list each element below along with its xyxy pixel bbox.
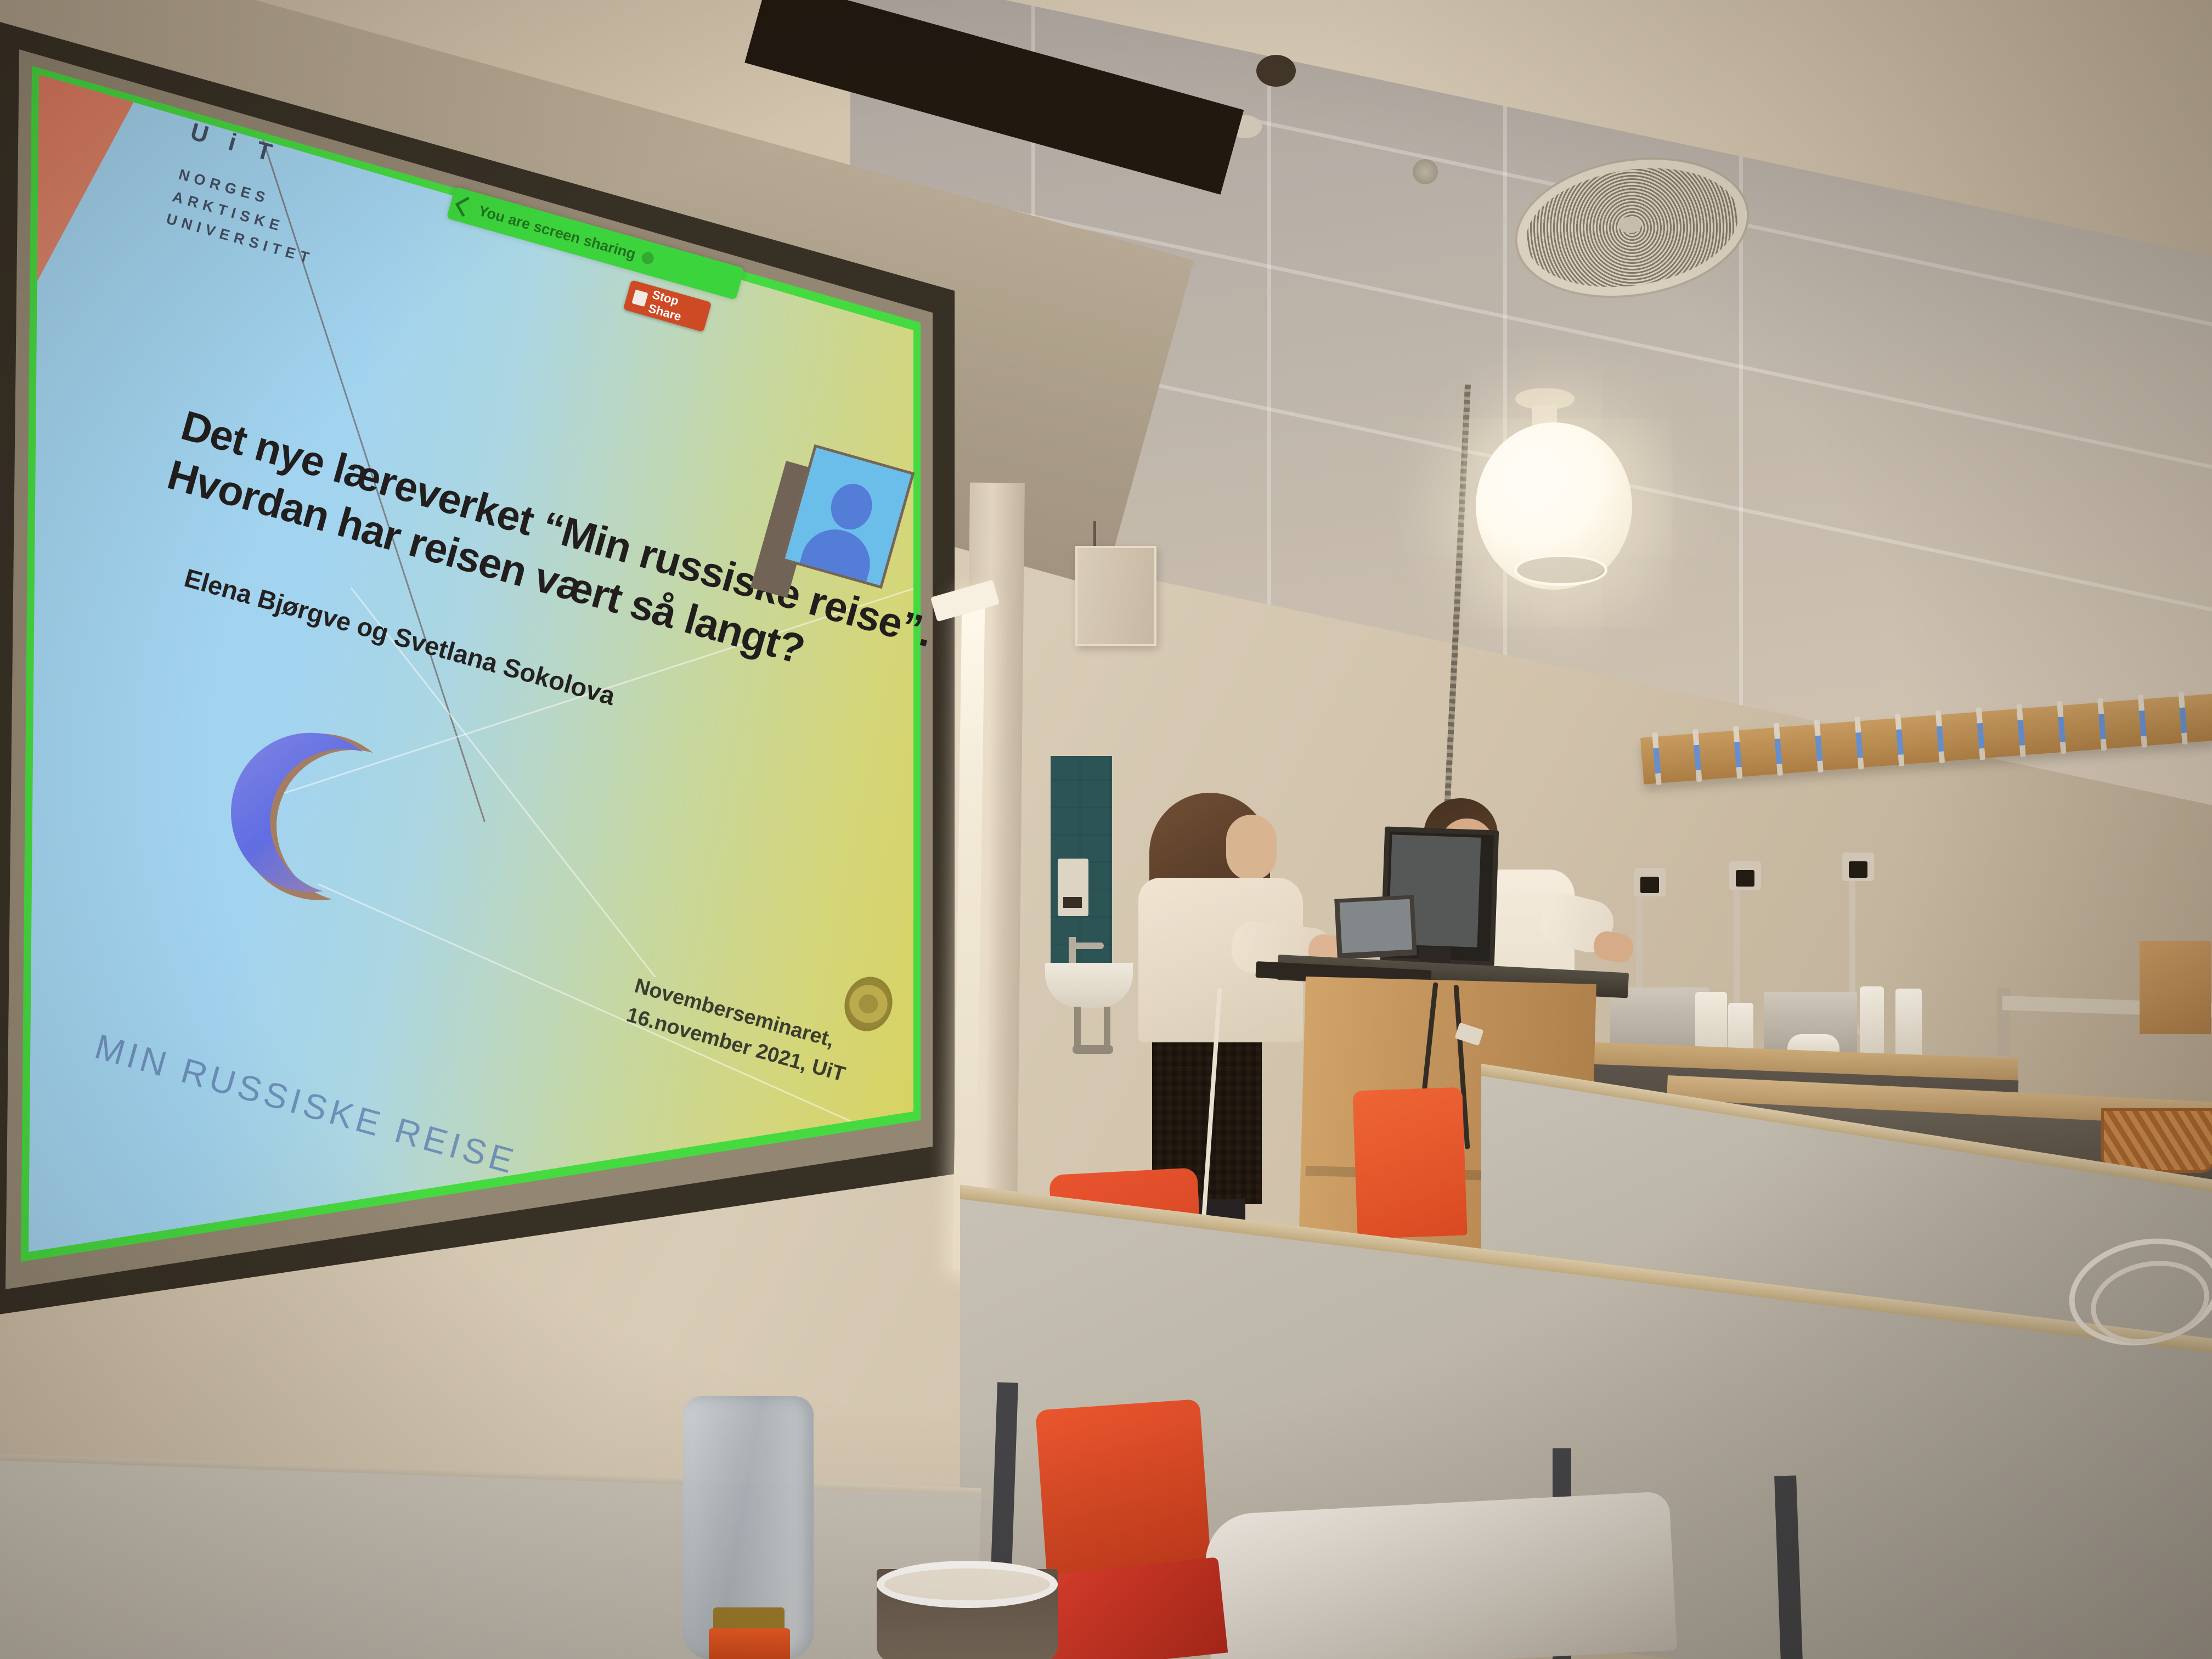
vent-hub: [1618, 217, 1641, 233]
sink-trap: [1073, 1045, 1113, 1054]
projection-screen: U i T NORGES ARKTISKE UNIVERSITET Det ny…: [0, 0, 988, 1366]
paper-cup-rim: [877, 1561, 1058, 1608]
coat-hook[interactable]: [2138, 695, 2147, 747]
sprinkler-head-icon: [1413, 159, 1438, 184]
white-plastic-bag[interactable]: [1203, 1491, 1677, 1659]
laptop-screen: [1340, 899, 1413, 953]
lamp-head-opening: [1640, 877, 1659, 893]
faucet-icon[interactable]: [1070, 943, 1104, 949]
avatar-head-icon: [826, 479, 877, 534]
coat-hook[interactable]: [2178, 692, 2187, 744]
lamp-head-opening: [1736, 870, 1754, 887]
soap-nozzle: [1063, 897, 1082, 908]
coat-hook[interactable]: [1895, 714, 1904, 766]
coat-hook[interactable]: [1976, 707, 1985, 760]
coat-hook[interactable]: [2097, 698, 2107, 751]
coat-hook[interactable]: [1774, 723, 1783, 776]
coat-hook[interactable]: [2057, 701, 2066, 754]
coat-hook[interactable]: [1692, 729, 1702, 782]
wicker-basket-icon: [2101, 1108, 2212, 1173]
chair-back-right[interactable]: [1352, 1087, 1467, 1239]
seminar-room-photo: U i T NORGES ARKTISKE UNIVERSITET Det ny…: [0, 0, 2212, 1659]
coat-hook[interactable]: [2016, 704, 2025, 757]
paper-bag: [2140, 941, 2211, 1034]
faucet-neck: [1069, 937, 1076, 963]
coat-hook[interactable]: [1652, 732, 1661, 785]
coat-hook[interactable]: [1814, 720, 1823, 772]
more-options-icon[interactable]: [640, 251, 655, 266]
sink-pipe-left: [1074, 1007, 1081, 1051]
chevron-left-icon[interactable]: [455, 196, 476, 217]
sink-pipe-right: [1104, 1007, 1110, 1051]
stop-square-icon: [631, 290, 648, 307]
ceiling-hole: [1256, 55, 1296, 87]
coat-hook[interactable]: [1733, 726, 1742, 778]
wall-speaker-icon: [1075, 546, 1156, 646]
lamp-diffuser-ring: [1514, 554, 1607, 586]
presenter-face: [1226, 815, 1277, 881]
bottle-cap[interactable]: [709, 1628, 790, 1659]
foreground-table: [0, 1459, 981, 1659]
lamp-head-opening: [1849, 861, 1867, 878]
coat-hook[interactable]: [1854, 716, 1864, 769]
coat-hook[interactable]: [1936, 710, 1945, 763]
